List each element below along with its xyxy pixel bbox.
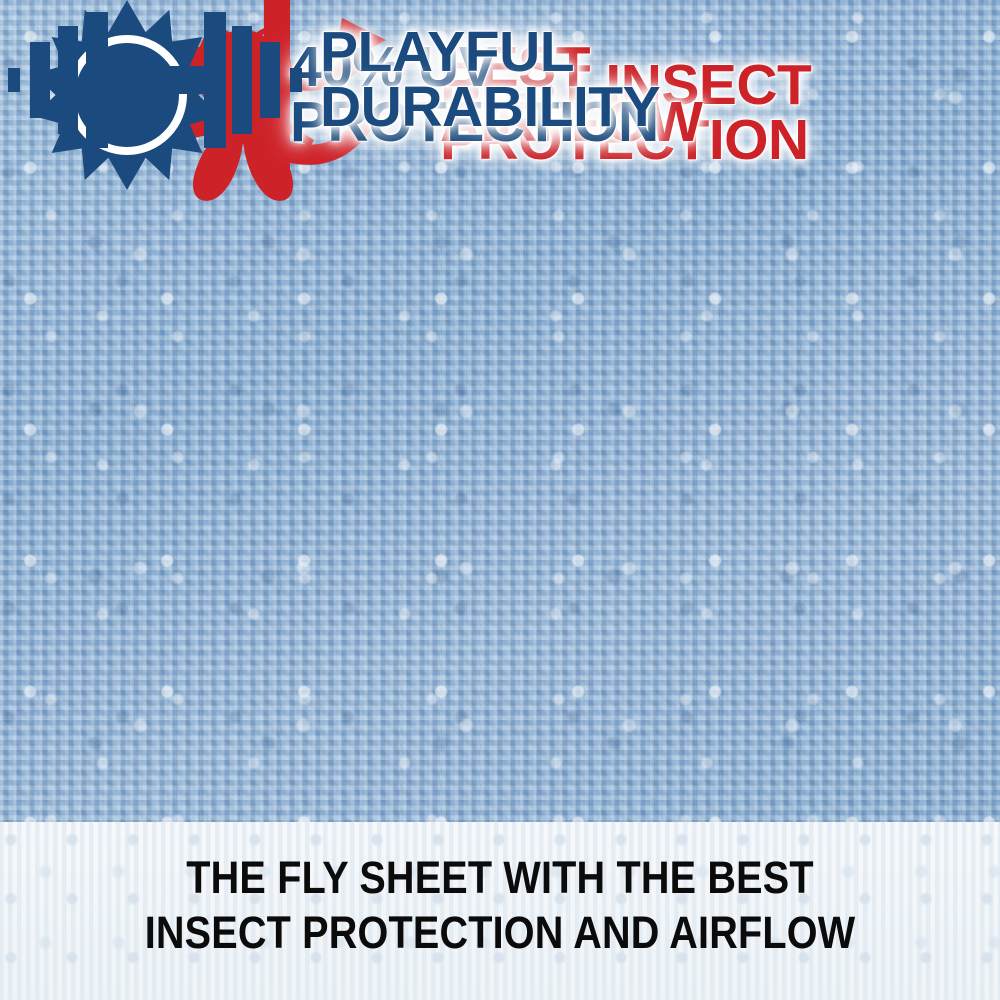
product-feature-infographic: BEST INSECT PROTECTION xyxy=(0,0,1000,1000)
caption-band: THE FLY SHEET WITH THE BEST INSECT PROTE… xyxy=(0,822,1000,1000)
caption-headline: THE FLY SHEET WITH THE BEST INSECT PROTE… xyxy=(60,850,940,960)
dumbbell-icon-cell xyxy=(0,0,310,160)
feature-label-durability: PLAYFUL DURABILITY xyxy=(320,25,660,134)
dumbbell-icon xyxy=(0,0,310,160)
feature-row-durability: PLAYFUL DURABILITY xyxy=(0,0,660,160)
